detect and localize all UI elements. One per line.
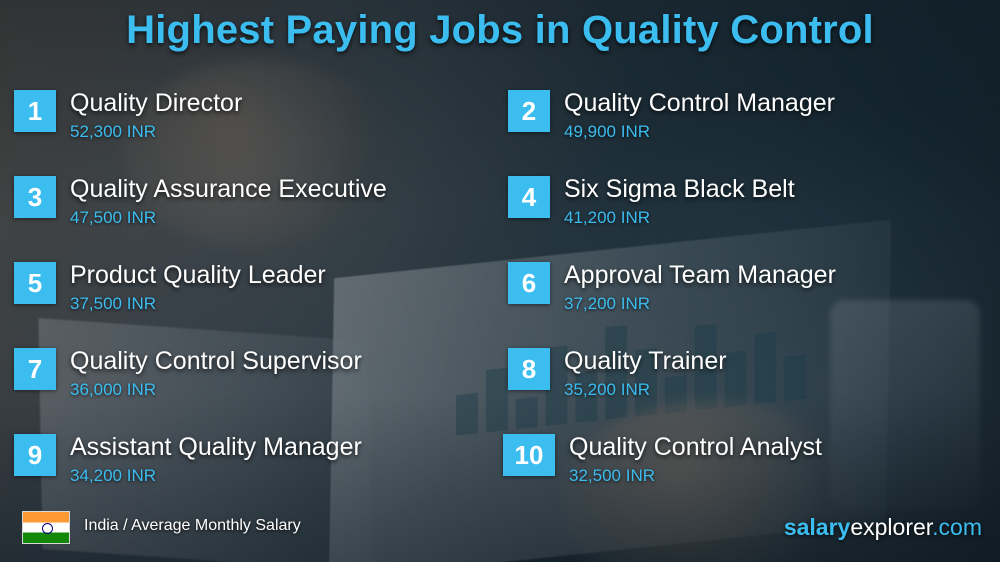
list-item: 3 Quality Assurance Executive 47,500 INR — [14, 174, 494, 252]
job-texts: Six Sigma Black Belt 41,200 INR — [564, 174, 795, 230]
footer-label: India / Average Monthly Salary — [84, 517, 301, 535]
brand-part-explorer: explorer — [850, 514, 932, 540]
job-texts: Quality Trainer 35,200 INR — [564, 346, 727, 402]
job-title: Quality Control Supervisor — [70, 346, 362, 376]
rank-badge: 5 — [14, 262, 56, 304]
ashoka-chakra-icon — [42, 523, 53, 534]
job-texts: Approval Team Manager 37,200 INR — [564, 260, 836, 316]
job-salary: 35,200 INR — [564, 378, 727, 402]
job-salary: 36,000 INR — [70, 378, 362, 402]
job-title: Six Sigma Black Belt — [564, 174, 795, 204]
job-salary: 37,200 INR — [564, 292, 836, 316]
job-texts: Quality Assurance Executive 47,500 INR — [70, 174, 387, 230]
rank-badge: 9 — [14, 434, 56, 476]
job-salary: 34,200 INR — [70, 464, 362, 488]
rank-badge: 2 — [508, 90, 550, 132]
list-item: 9 Assistant Quality Manager 34,200 INR — [14, 432, 494, 510]
list-item: 6 Approval Team Manager 37,200 INR — [508, 260, 988, 338]
brand-part-salary: salary — [784, 514, 851, 540]
job-texts: Quality Control Supervisor 36,000 INR — [70, 346, 362, 402]
job-salary: 49,900 INR — [564, 120, 835, 144]
list-item: 10 Quality Control Analyst 32,500 INR — [503, 432, 983, 510]
list-item: 5 Product Quality Leader 37,500 INR — [14, 260, 494, 338]
list-item: 7 Quality Control Supervisor 36,000 INR — [14, 346, 494, 424]
footer: India / Average Monthly Salary salaryexp… — [0, 500, 1000, 562]
list-item: 1 Quality Director 52,300 INR — [14, 88, 494, 166]
job-title: Quality Control Analyst — [569, 432, 822, 462]
job-salary: 41,200 INR — [564, 206, 795, 230]
job-salary: 32,500 INR — [569, 464, 822, 488]
job-title: Product Quality Leader — [70, 260, 326, 290]
brand-logo[interactable]: salaryexplorer.com — [784, 514, 982, 541]
job-salary: 47,500 INR — [70, 206, 387, 230]
infographic-card: Highest Paying Jobs in Quality Control 1… — [0, 0, 1000, 562]
brand-part-tld: .com — [932, 514, 982, 540]
jobs-list: 1 Quality Director 52,300 INR 2 Quality … — [0, 88, 1000, 498]
job-title: Quality Trainer — [564, 346, 727, 376]
rank-badge: 10 — [503, 434, 555, 476]
job-title: Quality Control Manager — [564, 88, 835, 118]
india-flag-icon — [22, 511, 70, 544]
job-title: Assistant Quality Manager — [70, 432, 362, 462]
job-salary: 37,500 INR — [70, 292, 326, 316]
job-texts: Product Quality Leader 37,500 INR — [70, 260, 326, 316]
rank-badge: 3 — [14, 176, 56, 218]
job-salary: 52,300 INR — [70, 120, 242, 144]
job-texts: Quality Control Manager 49,900 INR — [564, 88, 835, 144]
job-texts: Assistant Quality Manager 34,200 INR — [70, 432, 362, 488]
job-title: Quality Assurance Executive — [70, 174, 387, 204]
list-item: 8 Quality Trainer 35,200 INR — [508, 346, 988, 424]
job-texts: Quality Control Analyst 32,500 INR — [569, 432, 822, 488]
list-item: 2 Quality Control Manager 49,900 INR — [508, 88, 988, 166]
rank-badge: 1 — [14, 90, 56, 132]
job-title: Approval Team Manager — [564, 260, 836, 290]
job-title: Quality Director — [70, 88, 242, 118]
rank-badge: 4 — [508, 176, 550, 218]
page-title: Highest Paying Jobs in Quality Control — [0, 8, 1000, 53]
rank-badge: 8 — [508, 348, 550, 390]
list-item: 4 Six Sigma Black Belt 41,200 INR — [508, 174, 988, 252]
job-texts: Quality Director 52,300 INR — [70, 88, 242, 144]
rank-badge: 6 — [508, 262, 550, 304]
rank-badge: 7 — [14, 348, 56, 390]
